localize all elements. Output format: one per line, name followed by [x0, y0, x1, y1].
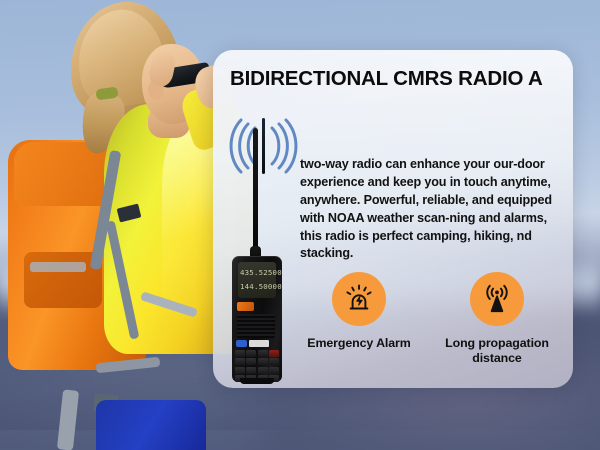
radio-tower-icon — [470, 272, 524, 326]
keypad-key[interactable] — [235, 350, 245, 357]
radio-base — [240, 378, 274, 384]
keypad-key[interactable] — [235, 367, 245, 374]
emergency-siren-icon — [332, 272, 386, 326]
lcd-frequency-1: 435.52500 — [240, 269, 274, 277]
feature-emergency-alarm: Emergency Alarm — [293, 272, 425, 351]
product-infographic: BIDIRECTIONAL CMRS RADIO A two-way radio… — [0, 0, 600, 450]
backpack-strap — [57, 389, 79, 450]
panel-title: BIDIRECTIONAL CMRS RADIO A — [230, 68, 560, 91]
keypad-key[interactable] — [269, 350, 279, 357]
keypad-key[interactable] — [269, 358, 279, 365]
feature-list: Emergency Alarm Long propagation distanc… — [283, 272, 565, 382]
feature-label: Emergency Alarm — [293, 336, 425, 351]
keypad-key[interactable] — [258, 350, 268, 357]
speaker-grille — [237, 314, 275, 338]
keypad-key[interactable] — [246, 350, 256, 357]
handheld-radio-device: 435.52500 144.50000 — [228, 128, 286, 386]
feature-label: Long propagation distance — [431, 336, 563, 366]
brand-plate — [249, 340, 269, 347]
indicator-badge — [236, 340, 247, 347]
ptt-button[interactable] — [237, 302, 254, 311]
panel-body-text: two-way radio can enhance your our-door … — [300, 156, 562, 263]
backpack-reflective-strip — [30, 262, 86, 272]
radio-antenna — [253, 128, 258, 254]
keypad-key[interactable] — [258, 358, 268, 365]
blue-pants — [96, 400, 206, 450]
feature-long-propagation: Long propagation distance — [431, 272, 563, 366]
keypad-key[interactable] — [246, 358, 256, 365]
hiker-figure — [0, 0, 230, 450]
keypad-key[interactable] — [269, 367, 279, 374]
lcd-frequency-2: 144.50000 — [240, 283, 274, 291]
radio-lcd-display: 435.52500 144.50000 — [238, 262, 276, 298]
keypad-key[interactable] — [258, 367, 268, 374]
keypad-key[interactable] — [235, 358, 245, 365]
keypad-key[interactable] — [246, 367, 256, 374]
